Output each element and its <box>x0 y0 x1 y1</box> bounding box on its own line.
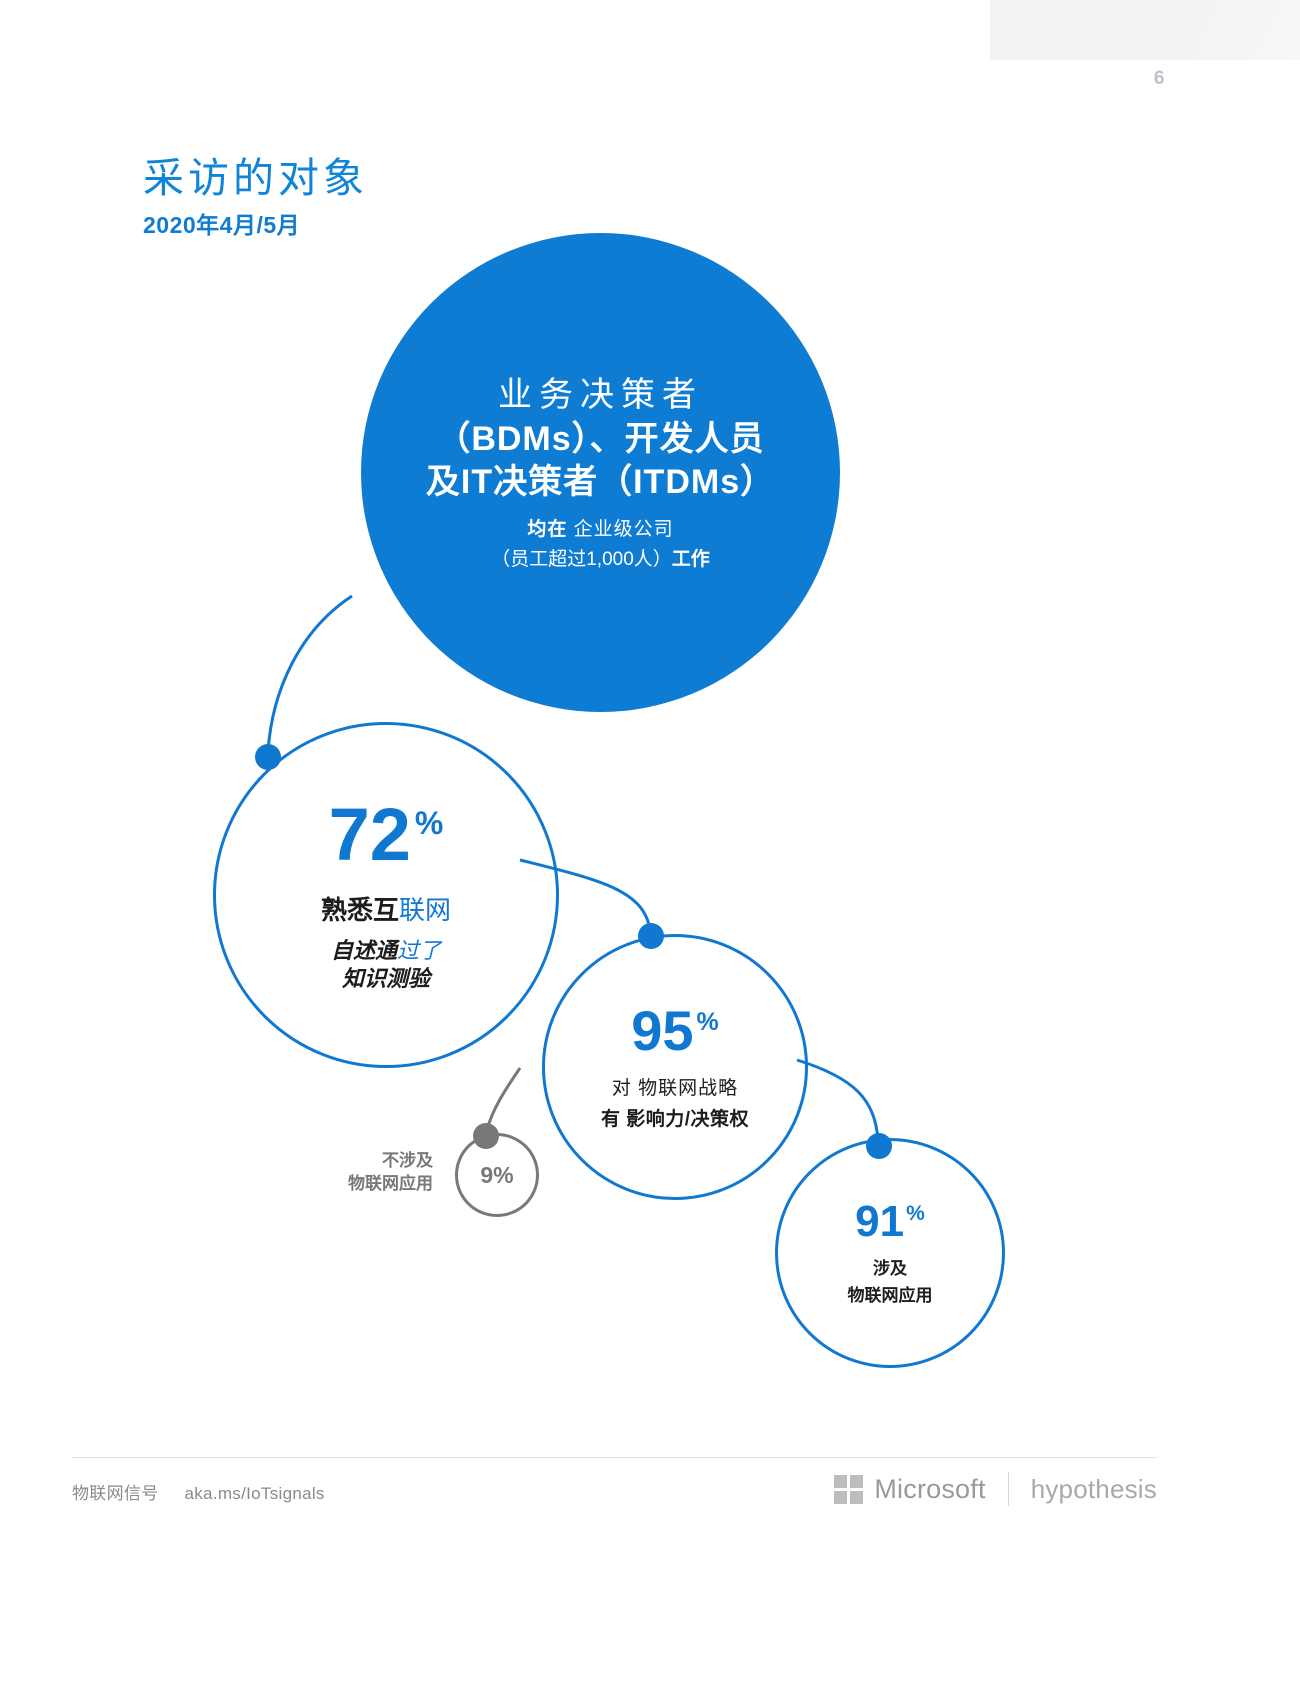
main-circle-subline-2: （员工超过1,000人）工作 <box>491 544 710 571</box>
main-circle-subline-2-light: （员工超过1,000人） <box>491 549 672 570</box>
stat-72-value: 72% <box>329 798 444 872</box>
main-circle-subline-1: 均在 企业级公司 <box>527 514 673 541</box>
stat-72-note-bold: 自述通 <box>331 938 397 963</box>
footer-right: Microsoft hypothesis <box>834 1472 1157 1506</box>
stat-72-label-bold: 熟悉互 <box>321 895 399 925</box>
page-subtitle: 2020年4月/5月 <box>143 206 300 240</box>
stat-72-number: 72 <box>329 793 411 876</box>
microsoft-squares-icon <box>834 1475 863 1504</box>
stat-9-label: 不涉及 物联网应用 <box>303 1150 433 1196</box>
stat-72-label-light: 联网 <box>399 895 451 925</box>
main-circle-line-1: 业务决策者 <box>498 374 703 418</box>
page-title: 采访的对象 <box>143 144 368 204</box>
main-circle-subline-1-bold: 均在 <box>527 519 567 540</box>
stat-72-note-line2: 知识测验 <box>342 966 430 991</box>
footer-divider <box>72 1457 1157 1458</box>
stat-circle-9: 9% <box>455 1133 539 1217</box>
stat-95-label-line-2: 有 影响力/决策权 <box>601 1104 749 1131</box>
hypothesis-wordmark: hypothesis <box>1031 1474 1157 1505</box>
stat-91-percent-sign: % <box>906 1202 925 1225</box>
footer-url[interactable]: aka.ms/IoTsignals <box>185 1484 325 1503</box>
stat-circle-91: 91% 涉及 物联网应用 <box>775 1138 1005 1368</box>
stat-72-percent-sign: % <box>415 805 443 841</box>
stat-9-label-line-1: 不涉及 <box>303 1150 433 1173</box>
microsoft-wordmark: Microsoft <box>874 1474 985 1505</box>
stat-91-value: 91% <box>855 1200 925 1244</box>
main-audience-circle: 业务决策者 （BDMs）、开发人员 及IT决策者（ITDMs） 均在 企业级公司… <box>361 233 840 712</box>
main-circle-subline-1-light: 企业级公司 <box>574 519 674 540</box>
stat-9-value: 9% <box>480 1164 513 1187</box>
stat-95-value: 95% <box>631 1003 719 1059</box>
main-circle-subline-2-bold: 工作 <box>672 549 710 570</box>
footer-left: 物联网信号aka.ms/IoTsignals <box>72 1479 325 1504</box>
stat-95-number: 95 <box>631 999 693 1062</box>
stat-95-label-line-1: 对 物联网战略 <box>612 1073 738 1100</box>
stat-91-label-line-1: 涉及 <box>873 1254 907 1279</box>
microsoft-logo: Microsoft <box>834 1474 985 1505</box>
stat-91-number: 91 <box>855 1197 904 1246</box>
page-number: 6 <box>1154 68 1165 90</box>
stat-91-label-line-2: 物联网应用 <box>848 1281 933 1306</box>
main-circle-line-3: 及IT决策者（ITDMs） <box>426 461 775 505</box>
stat-circle-95: 95% 对 物联网战略 有 影响力/决策权 <box>542 934 808 1200</box>
stat-72-label: 熟悉互联网 <box>321 890 451 927</box>
footer-logo-divider <box>1008 1472 1009 1506</box>
main-circle-line-2: （BDMs）、开发人员 <box>436 418 764 462</box>
footer-report-name: 物联网信号 <box>72 1484 159 1503</box>
stat-72-note-light: 过了 <box>397 938 441 963</box>
stat-circle-72: 72% 熟悉互联网 自述通过了 知识测验 <box>213 722 559 1068</box>
stat-95-percent-sign: % <box>697 1008 719 1036</box>
stat-72-note: 自述通过了 知识测验 <box>331 937 441 992</box>
stat-9-label-line-2: 物联网应用 <box>303 1173 433 1196</box>
